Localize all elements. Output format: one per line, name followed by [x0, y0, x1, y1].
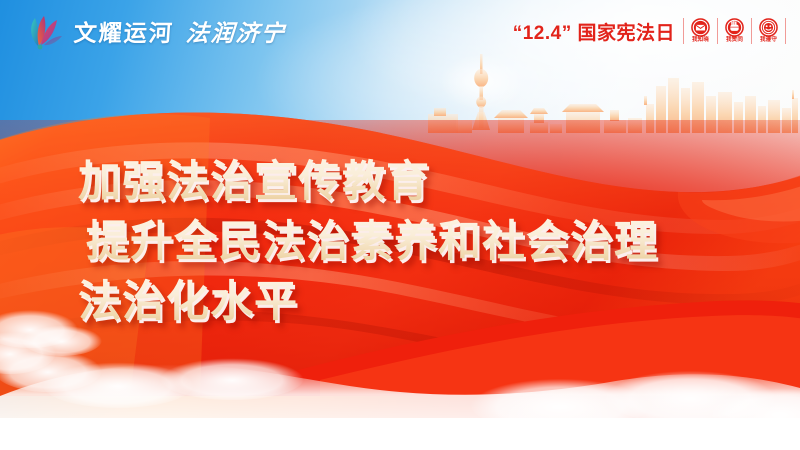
- headline-line-1: 加强法治宣传教育: [78, 152, 658, 212]
- constitution-day-label: “12.4” 国家宪法日: [513, 18, 675, 45]
- brand-text: 文耀运河法润济宁: [73, 14, 287, 48]
- pledge-label-know: 我知晓: [692, 38, 709, 44]
- pledge-item-agree[interactable]: 我赞同: [717, 18, 751, 44]
- headline-block: 加强法治宣传教育 提升全民法治素养和社会治理 法治化水平: [78, 152, 658, 332]
- poster-canvas: 文耀运河法润济宁 “12.4” 国家宪法日 我知晓: [0, 0, 800, 450]
- pledge-item-know[interactable]: 我知晓: [683, 18, 717, 44]
- butterfly-petal-logo-icon: [24, 12, 64, 50]
- pledge-item-obey[interactable]: 我遵守: [751, 18, 786, 44]
- smiley-face-icon: [759, 18, 778, 37]
- raised-fist-icon: [725, 18, 744, 37]
- brand-lockup: 文耀运河法润济宁: [24, 12, 286, 50]
- poster-header: 文耀运河法润济宁 “12.4” 国家宪法日 我知晓: [0, 0, 800, 62]
- pledge-label-agree: 我赞同: [726, 38, 743, 44]
- headline-line-3: 法治化水平: [78, 272, 658, 332]
- pledge-icon-group: 我知晓 我赞同: [683, 18, 786, 44]
- pledge-label-obey: 我遵守: [760, 38, 777, 44]
- brand-text-part2: 法润济宁: [185, 20, 287, 47]
- constitution-day-block: “12.4” 国家宪法日 我知晓: [513, 18, 786, 45]
- headline-line-2: 提升全民法治素养和社会治理: [86, 212, 658, 272]
- envelope-icon: [691, 18, 710, 37]
- brand-text-part1: 文耀运河: [73, 20, 175, 47]
